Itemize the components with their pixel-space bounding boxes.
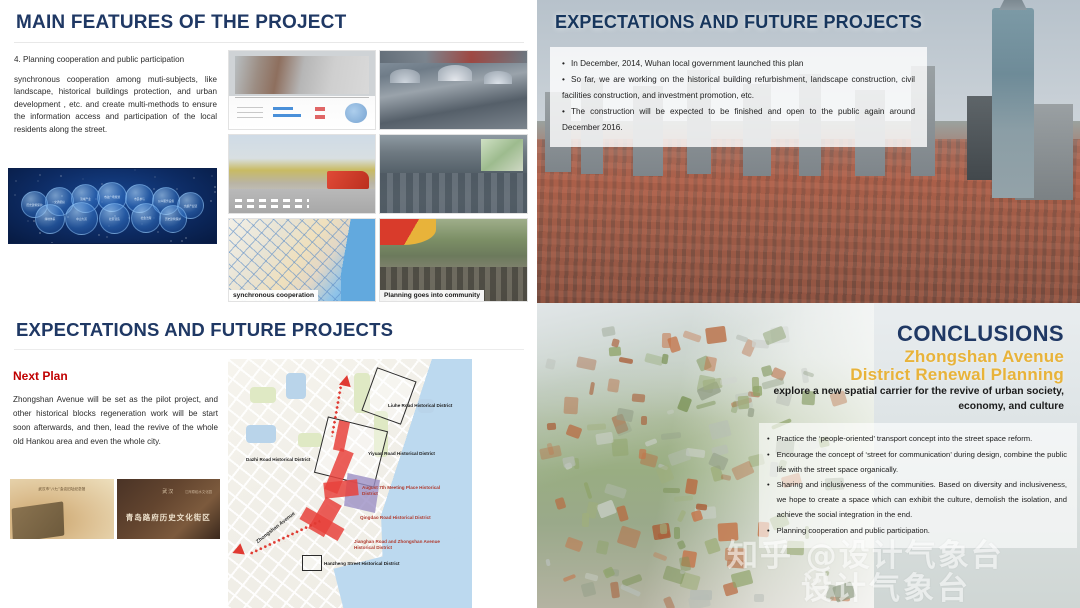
sparkle [153, 188, 155, 190]
map-district-outline-hanzheng [302, 555, 322, 571]
thumbnail-community-meeting-photo [379, 134, 528, 214]
bubble-label: 社区营造 [109, 217, 120, 221]
rendering-block [659, 524, 667, 534]
hankou-historical-districts-map: Zhongshan Avenue Liuhe Road Historical D… [228, 359, 472, 608]
next-plan-paragraph: Zhongshan Avenue will be set as the pilo… [13, 393, 218, 450]
thumbnail-caption: synchronous cooperation [229, 290, 318, 301]
map-label-august7: August 7th Meeting Place Historical Dist… [362, 485, 448, 496]
sparkle [181, 240, 183, 242]
sparkle [154, 176, 156, 178]
wuhan-landmark-tower [992, 8, 1034, 198]
sparkle [51, 242, 53, 244]
poster-caption-sub: 江岸原稻水文化园 [185, 489, 212, 494]
title-divider [14, 349, 524, 350]
map-green-area [250, 387, 276, 403]
map-lake [246, 425, 276, 443]
sparkle [15, 180, 17, 182]
rendering-block [608, 346, 620, 356]
rendering-block [753, 594, 763, 603]
rendering-block [661, 353, 668, 364]
sparkle [214, 186, 216, 188]
main-features-text: 4. Planning cooperation and public parti… [14, 54, 217, 136]
sparkle [106, 236, 108, 238]
bubble-label: 交通组织 [54, 200, 65, 204]
main-features-lead: 4. Planning cooperation and public parti… [14, 54, 217, 67]
conclusions-title: CONCLUSIONS [897, 321, 1064, 347]
expectations-bullet: •In December, 2014, Wuhan local governme… [562, 56, 915, 72]
rendering-block [685, 478, 698, 494]
poster-pair: 武汉市“八七”会议旧址纪念馆 武汉 江岸原稻水文化园 青岛路府历史文化街区 [10, 479, 220, 539]
sparkle [210, 200, 212, 202]
map-arrow-north [339, 374, 353, 387]
rendering-block [547, 422, 556, 430]
sparkle [98, 234, 100, 236]
bubble-node: 中山大道 [65, 202, 98, 235]
thumbnail-caption: Planning goes into community [380, 290, 484, 301]
page-title: EXPECTATIONS AND FUTURE PROJECTS [16, 319, 393, 341]
sparkle [39, 232, 41, 234]
conclusions-bullet: •Planning cooperation and public partici… [767, 524, 1067, 539]
next-plan-heading: Next Plan [13, 369, 68, 383]
bubble-label: 公众服务设施 [158, 199, 174, 203]
bubble-node: 社区营造 [99, 203, 130, 234]
page-title: EXPECTATIONS AND FUTURE PROJECTS [555, 12, 922, 33]
bubble-label: 历史建筑保护 [165, 217, 181, 221]
rendering-block [717, 523, 737, 542]
slide-deck-grid: MAIN FEATURES OF THE PROJECT 4. Planning… [0, 0, 1080, 608]
slide-conclusions: CONCLUSIONS Zhongshan Avenue District Re… [537, 303, 1080, 608]
bubble-node: 绿地体系 [35, 204, 65, 234]
rendering-block [704, 356, 717, 371]
sparkle [134, 169, 136, 171]
rendering-block [631, 393, 645, 402]
rendering-block [662, 333, 671, 348]
rendering-block [674, 527, 680, 539]
bubble-label: 历史建筑保护 [26, 203, 42, 207]
bubble-node: 历史建筑保护 [159, 205, 187, 233]
sparkle [157, 231, 159, 233]
bubble-label: 文旅产业链 [184, 204, 197, 208]
conclusions-bullet: •Sharing and inclusiveness of the commun… [767, 478, 1067, 522]
poster-qingdao-road: 武汉 江岸原稻水文化园 青岛路府历史文化街区 [117, 479, 221, 539]
map-label-liuhe: Liuhe Road Historical District [388, 403, 468, 409]
thumbnail-building-elevation-drawing [228, 50, 376, 130]
blue-bubble-diagram: 历史建筑保护交通组织流域产业市政广场规划市民参与公众服务设施文旅产业链绿地体系中… [8, 168, 217, 244]
rendering-block [607, 378, 620, 392]
poster-bayi-exhibition: 武汉市“八七”会议旧址纪念馆 [10, 479, 114, 539]
map-green-area [298, 433, 322, 447]
map-lake [286, 373, 306, 399]
bubble-node: 社会治理 [131, 203, 161, 233]
sparkle [176, 188, 178, 190]
rendering-block [705, 325, 727, 344]
rendering-block [638, 448, 646, 459]
expectations-bullet: •So far, we are working on the historica… [562, 72, 915, 104]
sparkle [37, 180, 39, 182]
rendering-block [663, 487, 680, 492]
bubble-label: 中山大道 [76, 217, 87, 221]
sparkle [27, 220, 29, 222]
sparkle [60, 175, 62, 177]
slide-main-features: MAIN FEATURES OF THE PROJECT 4. Planning… [0, 0, 537, 303]
map-label-dazhi: Dazhi Road Historical District [246, 457, 326, 463]
map-label-yiyuan: Yiyuan Road Historical District [368, 451, 454, 457]
sparkle [39, 174, 41, 176]
poster-caption-title: 青岛路府历史文化街区 [117, 512, 221, 523]
map-label-jianghan: Jianghan Road and Zhongshan Avenue Histo… [354, 539, 446, 550]
conclusions-tagline: explore a new spatial carrier for the re… [734, 385, 1064, 415]
map-label-hanzheng: Hanzheng Street Historical District [324, 561, 416, 567]
thumbnail-street-rendering [228, 134, 376, 214]
title-divider [14, 42, 524, 43]
conclusions-bullet-panel: •Practice the ‘people-oriented’ transpor… [759, 423, 1077, 548]
rendering-block [725, 548, 746, 562]
bubble-label: 市民参与 [134, 197, 145, 201]
expectations-text-panel: •In December, 2014, Wuhan local governme… [550, 47, 927, 147]
stone-artifact-graphic [12, 501, 65, 539]
conclusions-subtitle-line2: District Renewal Planning [850, 365, 1064, 385]
page-title: MAIN FEATURES OF THE PROJECT [16, 12, 346, 34]
rendering-block [611, 439, 628, 457]
rendering-block [582, 512, 589, 526]
sparkle [170, 240, 172, 242]
poster-caption: 武汉市“八七”会议旧址纪念馆 [10, 487, 114, 492]
conclusions-subtitle-line1: Zhongshan Avenue [904, 347, 1064, 367]
bubble-label: 绿地体系 [45, 217, 56, 221]
map-label-qingdao: Qingdao Road Historical District [360, 515, 446, 521]
bubble-label: 流域产业 [80, 197, 91, 201]
rendering-block [690, 590, 712, 600]
thumbnail-grid: synchronous cooperation Planning goes in… [228, 50, 528, 302]
slide-next-plan: EXPECTATIONS AND FUTURE PROJECTS Next Pl… [0, 303, 537, 608]
sparkle [82, 178, 84, 180]
main-features-paragraph: synchronous cooperation among muti-subje… [14, 74, 217, 137]
sparkle [193, 177, 195, 179]
expectations-bullet: •The construction will be expected to be… [562, 104, 915, 136]
conclusions-bullet: •Practice the ‘people-oriented’ transpor… [767, 432, 1067, 447]
sparkle [211, 175, 213, 177]
sparkle [185, 237, 187, 239]
thumbnail-planning-map: synchronous cooperation [228, 218, 376, 302]
bubble-label: 社会治理 [141, 216, 152, 220]
bubble-label: 市政广场规划 [104, 195, 120, 199]
slide-expectations-photo: EXPECTATIONS AND FUTURE PROJECTS •In Dec… [537, 0, 1080, 303]
sparkle [14, 194, 16, 196]
thumbnail-outdoor-exhibition-photo: Planning goes into community [379, 218, 528, 302]
rendering-block [564, 396, 579, 414]
thumbnail-residents-in-rain-photo [379, 50, 528, 130]
conclusions-bullet: •Encourage the concept of ‘street for co… [767, 448, 1067, 478]
rendering-block [641, 416, 647, 425]
sparkle [214, 191, 216, 193]
rendering-block [596, 540, 610, 555]
rendering-block [596, 431, 614, 444]
